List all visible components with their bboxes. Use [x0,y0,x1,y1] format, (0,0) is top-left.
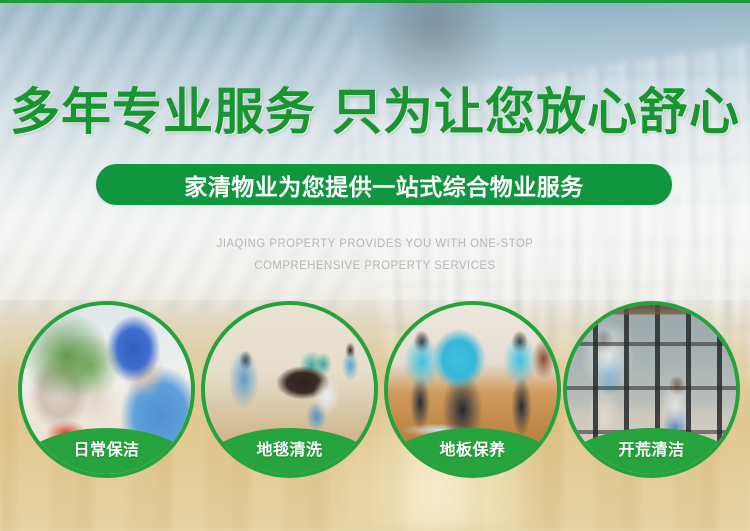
page-title: 多年专业服务只为让您放心舒心 [0,84,750,140]
subtitle-line-1: JIAQING PROPERTY PROVIDES YOU WITH ONE-S… [23,232,728,254]
service-label-3: 地板保养 [439,436,505,460]
service-label-1: 日常保洁 [73,436,139,460]
promo-banner: 多年专业服务只为让您放心舒心 家清物业为您提供一站式综合物业服务 JIAQING… [0,0,750,531]
subtitle-line-2: COMPREHENSIVE PROPERTY SERVICES [23,254,728,276]
service-label-2: 地毯清洗 [256,436,322,460]
service-circle-daily-cleaning[interactable]: 日常保洁 [18,301,195,478]
service-circle-post-construction-cleaning[interactable]: 开荒清洁 [563,301,740,478]
headline-part-1: 多年专业服务 [10,84,316,140]
tagline-text: 家清物业为您提供一站式综合物业服务 [184,168,584,202]
tagline-pill: 家清物业为您提供一站式综合物业服务 [96,164,672,205]
service-circle-carpet-cleaning[interactable]: 地毯清洗 [201,301,378,478]
subtitle-english: JIAQING PROPERTY PROVIDES YOU WITH ONE-S… [23,232,728,276]
headline-part-2: 只为让您放心舒心 [332,84,740,140]
top-accent-rule [0,0,750,3]
service-label-4: 开荒清洁 [618,436,684,460]
service-circle-floor-maintenance[interactable]: 地板保养 [384,301,561,478]
